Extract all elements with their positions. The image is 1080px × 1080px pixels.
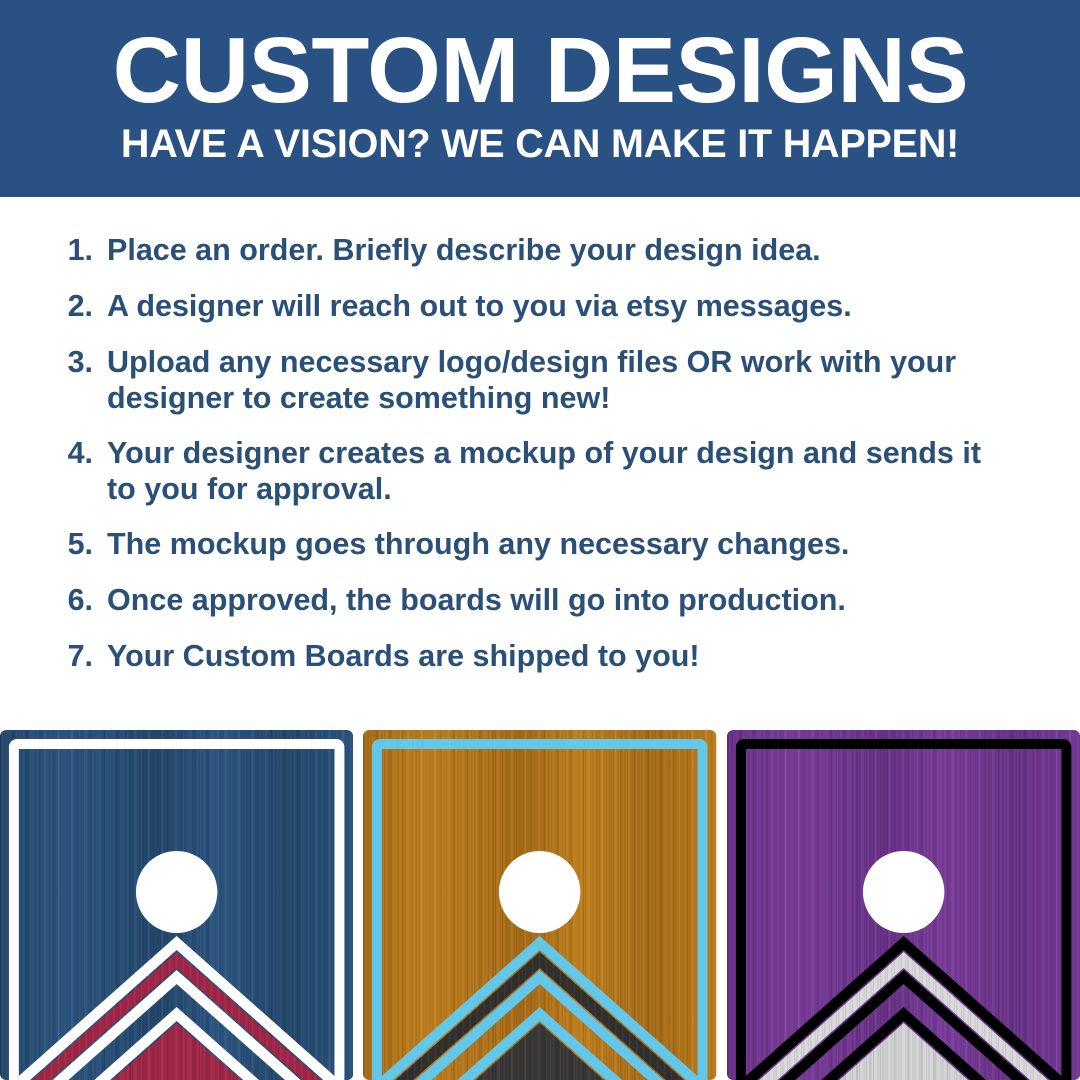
step-item: 3.Upload any necessary logo/design files… xyxy=(60,345,1020,417)
step-number: 6. xyxy=(60,583,107,619)
page-title: CUSTOM DESIGNS xyxy=(112,26,967,114)
step-number: 2. xyxy=(60,289,107,325)
step-text: Once approved, the boards will go into p… xyxy=(107,583,1007,619)
step-item: 6.Once approved, the boards will go into… xyxy=(60,583,1020,619)
step-number: 7. xyxy=(60,639,107,675)
step-text: Place an order. Briefly describe your de… xyxy=(107,233,1007,269)
step-text: Upload any necessary logo/design files O… xyxy=(107,345,1007,417)
custom-designs-infographic: CUSTOM DESIGNS HAVE A VISION? WE CAN MAK… xyxy=(0,0,1080,1080)
steps-list: 1.Place an order. Briefly describe your … xyxy=(60,233,1020,675)
purple-black-gray-board xyxy=(727,730,1080,1080)
step-item: 7.Your Custom Boards are shipped to you! xyxy=(60,639,1020,675)
step-text: A designer will reach out to you via ets… xyxy=(107,289,1007,325)
step-number: 3. xyxy=(60,345,107,381)
step-number: 1. xyxy=(60,233,107,269)
board-gallery xyxy=(0,730,1080,1080)
step-item: 1.Place an order. Briefly describe your … xyxy=(60,233,1020,269)
bean-bag-hole xyxy=(863,851,944,933)
blue-red-white-board xyxy=(0,730,353,1080)
bean-bag-hole xyxy=(499,851,580,933)
step-number: 5. xyxy=(60,527,107,563)
steps-section: 1.Place an order. Briefly describe your … xyxy=(0,197,1080,730)
page-subtitle: HAVE A VISION? WE CAN MAKE IT HAPPEN! xyxy=(121,125,959,165)
orange-skyblue-charcoal-board xyxy=(363,730,716,1080)
step-item: 4.Your designer creates a mockup of your… xyxy=(60,436,1020,508)
step-text: Your Custom Boards are shipped to you! xyxy=(107,639,1007,675)
step-number: 4. xyxy=(60,436,107,472)
step-text: Your designer creates a mockup of your d… xyxy=(107,436,1007,508)
step-text: The mockup goes through any necessary ch… xyxy=(107,527,1007,563)
bean-bag-hole xyxy=(136,851,217,933)
step-item: 5.The mockup goes through any necessary … xyxy=(60,527,1020,563)
step-item: 2.A designer will reach out to you via e… xyxy=(60,289,1020,325)
header-banner: CUSTOM DESIGNS HAVE A VISION? WE CAN MAK… xyxy=(0,0,1080,197)
